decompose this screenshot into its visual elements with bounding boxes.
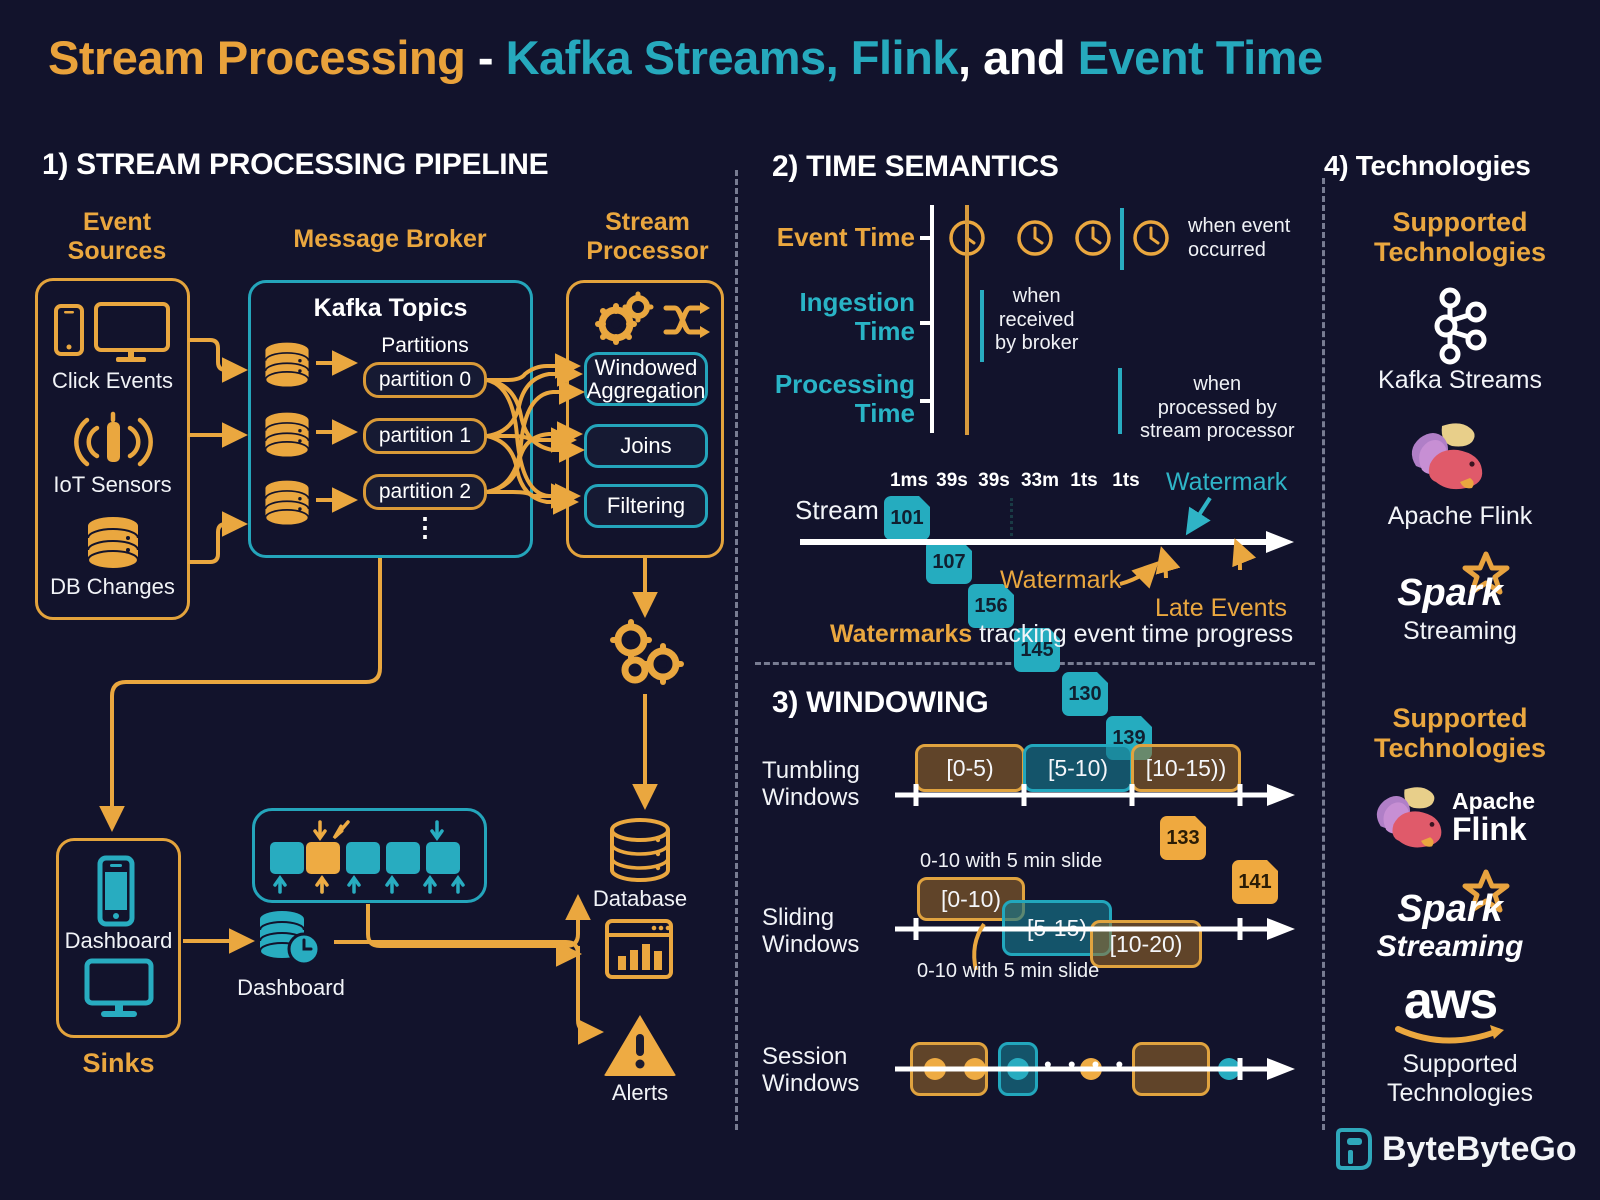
processing-time-bar-cyan xyxy=(1118,368,1122,434)
flink-squirrel-icon xyxy=(1400,420,1496,494)
stream-tick-4: 1ts xyxy=(1062,470,1106,492)
event-time-clock-2 xyxy=(1074,219,1112,257)
tumbling-label-line2: Windows xyxy=(762,785,887,812)
bar-chart-icon xyxy=(604,918,674,980)
sliding-label-line2: Windows xyxy=(762,932,887,959)
event-sources-label: Event Sources xyxy=(62,208,172,266)
title-part-kafka-flink: Kafka Streams, Flink xyxy=(506,31,958,84)
aws-logo-text: aws xyxy=(1390,975,1510,1027)
processing-time-line1: Processing xyxy=(755,370,915,399)
partitions-to-operations-arrows xyxy=(487,360,587,540)
kafka-streams-label: Kafka Streams xyxy=(1340,366,1580,395)
broker-db-stack-1 xyxy=(261,410,313,460)
sup-tech-footer-line1: Supported xyxy=(1350,1050,1570,1079)
sink-mobile-icon xyxy=(96,855,136,927)
broker-to-sinks-path xyxy=(100,556,400,846)
event-time-bar-cyan xyxy=(1120,208,1124,270)
op-filtering[interactable]: Filtering xyxy=(584,484,708,528)
outputs-connector-paths xyxy=(326,880,616,1070)
event-sources-label-line2: Sources xyxy=(62,237,172,266)
sinks-label: Sinks xyxy=(56,1048,181,1079)
sink-monitor-icon xyxy=(84,958,154,1020)
sup-tech-1-line2: Technologies xyxy=(1350,237,1570,267)
stream-tick-3: 33m xyxy=(1014,470,1066,492)
gears-to-database-path xyxy=(620,692,680,822)
page-title: Stream Processing - Kafka Streams, Flink… xyxy=(48,30,1568,85)
spark-logo-text-2: Spark xyxy=(1370,888,1530,931)
ingestion-time-label: Ingestion Time xyxy=(760,288,915,345)
broker-db-stack-0 xyxy=(261,340,313,390)
supported-technologies-title-2: Supported Technologies xyxy=(1350,703,1570,763)
processor-to-outputs-path xyxy=(620,556,680,626)
gears-icon xyxy=(592,292,654,346)
session-axis xyxy=(895,1052,1305,1086)
title-part-and: , and xyxy=(958,31,1078,84)
sinks-to-dashboard-arrow xyxy=(183,928,263,954)
output-database-label: Database xyxy=(574,886,706,912)
stream-processor-label-line2: Processor xyxy=(570,237,725,266)
event-time-clock-3 xyxy=(1132,219,1170,257)
stream-tick-5: 1ts xyxy=(1104,470,1148,492)
sup-tech-2-line1: Supported xyxy=(1350,703,1570,733)
output-alerts-label: Alerts xyxy=(574,1080,706,1106)
bytebytego-brand: ByteByteGo xyxy=(1382,1130,1577,1169)
output-database-icon xyxy=(606,818,674,884)
title-dash: - xyxy=(465,31,505,84)
event-sources-label-line1: Event xyxy=(62,208,172,237)
sliding-note-top: 0-10 with 5 min slide xyxy=(920,850,1102,873)
partition-1[interactable]: partition 1 xyxy=(363,418,487,454)
session-windows-label: Session Windows xyxy=(762,1044,887,1098)
processing-time-note-line1: when xyxy=(1140,373,1295,397)
supported-technologies-title-1: Supported Technologies xyxy=(1350,207,1570,267)
ingestion-time-note-line3: by broker xyxy=(995,332,1078,356)
section1-heading: 1) STREAM PROCESSING PIPELINE xyxy=(42,148,548,182)
event-time-bar-amber xyxy=(965,205,969,435)
ingestion-time-line1: Ingestion xyxy=(760,288,915,317)
session-label-line2: Windows xyxy=(762,1071,887,1098)
sliding-axis xyxy=(895,912,1305,946)
section4-heading: 4) Technologies xyxy=(1324,150,1531,182)
op-windowed-line1: Windowed xyxy=(595,355,698,380)
event-time-clock-1 xyxy=(1016,219,1054,257)
sup-tech-footer-line2: Technologies xyxy=(1350,1079,1570,1108)
broker-internal-arrows xyxy=(316,340,366,530)
apache-flink-line1: Apache xyxy=(1452,790,1535,813)
supported-technologies-footer: Supported Technologies xyxy=(1350,1050,1570,1108)
broker-db-stack-2 xyxy=(261,478,313,528)
op-windowed-line2: Aggregation xyxy=(587,378,706,403)
message-broker-label: Message Broker xyxy=(250,225,530,254)
event-time-label: Event Time xyxy=(770,222,915,253)
ingestion-time-bar-cyan xyxy=(980,290,984,362)
watermark-cyan-label: Watermark xyxy=(1166,468,1287,497)
database-clock-icon xyxy=(256,908,326,970)
kafka-logo-icon xyxy=(1420,288,1496,364)
ingestion-time-note-line2: received xyxy=(995,309,1078,333)
phone-monitor-icon xyxy=(52,300,174,362)
kafka-topics-title: Kafka Topics xyxy=(248,294,533,323)
spark-streaming-label: Streaming xyxy=(1340,617,1580,646)
processing-time-line2: Time xyxy=(755,399,915,428)
processing-time-label: Processing Time xyxy=(755,370,915,427)
late-event-141: 141 xyxy=(1232,860,1278,904)
stream-processor-label-line1: Stream xyxy=(570,208,725,237)
shuffle-icon xyxy=(664,300,712,340)
sources-to-broker-arrows xyxy=(186,330,256,570)
sinks-dashboard-label: Dashboard xyxy=(46,928,191,954)
watermark-cyan-arrow xyxy=(1180,496,1240,546)
tumbling-windows-label: Tumbling Windows xyxy=(762,758,887,812)
late-event-133: 133 xyxy=(1160,816,1206,860)
processing-time-note-line2: processed by xyxy=(1140,397,1295,421)
stream-tick-0: 1ms xyxy=(885,470,933,492)
tumbling-axis xyxy=(895,778,1305,812)
late-events-label: Late Events xyxy=(1155,594,1287,623)
sliding-windows-label: Sliding Windows xyxy=(762,905,887,959)
ingestion-time-note-line1: when xyxy=(995,285,1078,309)
event-time-note-line1: when event xyxy=(1188,215,1290,239)
stream-processor-label: Stream Processor xyxy=(570,208,725,266)
stream-event-4: 130 xyxy=(1062,672,1108,716)
event-time-note-line2: occurred xyxy=(1188,239,1290,263)
title-part-stream-processing: Stream Processing xyxy=(48,31,465,84)
alert-triangle-icon xyxy=(602,1012,678,1078)
spark-streaming-label-2: Streaming xyxy=(1360,930,1540,964)
sup-tech-1-line1: Supported xyxy=(1350,207,1570,237)
op-windowed-aggregation[interactable]: WindowedAggregation xyxy=(584,352,708,406)
stream-tick-2: 39s xyxy=(970,470,1018,492)
time-semantics-axis xyxy=(918,205,948,435)
apache-flink-line2: Flink xyxy=(1452,813,1535,845)
section2-heading: 2) TIME SEMANTICS xyxy=(772,150,1059,184)
ingestion-time-note: when received by broker xyxy=(995,285,1078,356)
event-time-note: when event occurred xyxy=(1188,215,1290,262)
stream-tick-1: 39s xyxy=(928,470,976,492)
stream-label: Stream xyxy=(795,495,879,526)
watermarks-caption-bold: Watermarks xyxy=(830,620,972,648)
processing-gears-icon xyxy=(605,618,687,688)
click-events-label: Click Events xyxy=(35,368,190,394)
spark-logo-text: Spark xyxy=(1370,572,1530,615)
partitions-label: Partitions xyxy=(350,334,500,358)
iot-sensor-icon xyxy=(75,412,151,470)
sliding-note-bottom: 0-10 with 5 min slide xyxy=(917,960,1099,983)
watermarks-caption: Watermarks tracking event time progress xyxy=(830,620,1293,649)
flink-logo-icon xyxy=(1366,783,1454,853)
sup-tech-2-line2: Technologies xyxy=(1350,733,1570,763)
bytebytego-logo-icon xyxy=(1336,1126,1374,1172)
session-label-line1: Session xyxy=(762,1044,887,1071)
partition-2[interactable]: partition 2 xyxy=(363,474,487,510)
apache-flink-label: Apache Flink xyxy=(1340,502,1580,531)
processing-time-note-line3: stream processor xyxy=(1140,420,1295,444)
title-part-event-time: Event Time xyxy=(1078,31,1323,84)
partition-0[interactable]: partition 0 xyxy=(363,362,487,398)
divider-middle-right xyxy=(1322,178,1325,1130)
tumbling-label-line1: Tumbling xyxy=(762,758,887,785)
partitions-ellipsis: ⋮ xyxy=(363,512,487,543)
ingestion-time-line2: Time xyxy=(760,317,915,346)
section3-heading: 3) WINDOWING xyxy=(772,686,988,720)
processing-time-note: when processed by stream processor xyxy=(1140,373,1295,444)
watermarks-caption-rest: tracking event time progress xyxy=(972,620,1293,648)
iot-sensors-label: IoT Sensors xyxy=(35,472,190,498)
sliding-label-line1: Sliding xyxy=(762,905,887,932)
divider-left-middle xyxy=(735,170,738,1130)
op-joins[interactable]: Joins xyxy=(584,424,708,468)
watermark-amber-label: Watermark xyxy=(1000,566,1121,595)
aws-logo-icon: aws xyxy=(1390,975,1510,1049)
apache-flink-logo-text: Apache Flink xyxy=(1452,790,1535,845)
